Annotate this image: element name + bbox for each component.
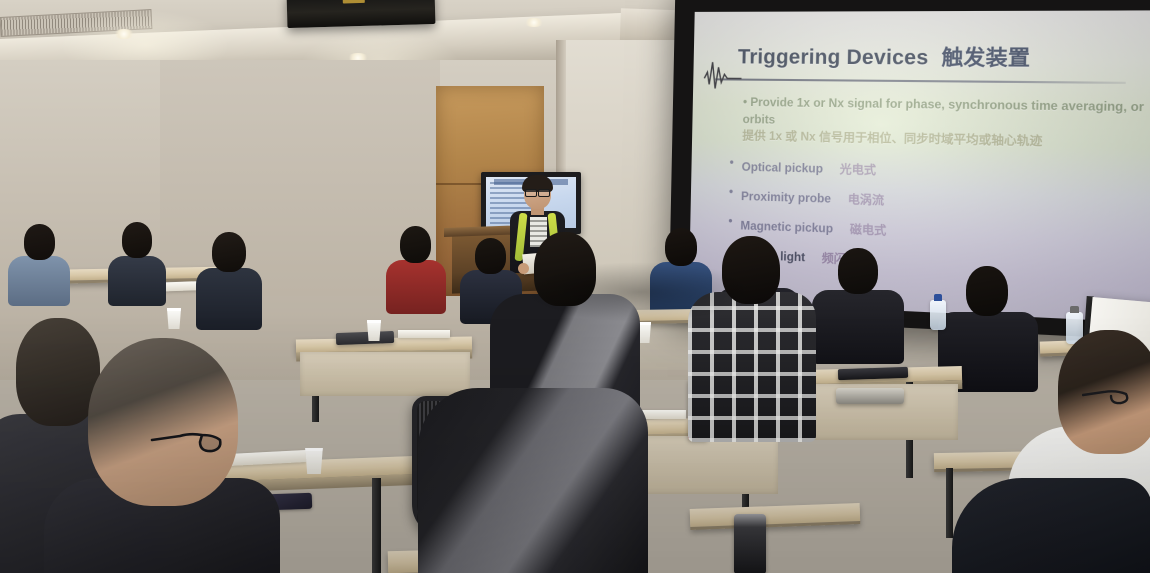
attendee-right-dark-2 <box>812 248 904 360</box>
attendee-4-head <box>400 226 431 263</box>
attendee-9-head <box>722 236 780 304</box>
attendee-bottom-right-dark <box>952 478 1150 573</box>
slide-title-cn: 触发装置 <box>941 47 1030 71</box>
attendee-center-front-top <box>418 388 648 573</box>
slide-title: Triggering Devices触发装置 <box>738 40 1146 72</box>
slide-bullet-proximity-cn: 电涡流 <box>848 194 885 207</box>
attendee-11-top <box>812 290 904 364</box>
slide-bullet-optical: Optical pickup光电式 <box>742 159 1147 185</box>
attendee-left-back-1 <box>8 224 70 302</box>
attendee-12b-head <box>966 266 1008 316</box>
attendee-bottom-right-top <box>952 478 1150 573</box>
attendee-left-grey <box>196 232 262 328</box>
slide-bullet-magnetic-cn: 磁电式 <box>850 224 887 238</box>
slide-bullet-optical-en: Optical pickup <box>742 162 824 176</box>
presenter-glasses-icon <box>525 189 550 195</box>
attendee-center-front-hoodie <box>418 388 648 573</box>
attendee-1-top <box>8 256 70 306</box>
ceiling-projector <box>287 0 436 28</box>
desk-third-modesty-panel <box>628 436 778 494</box>
attendee-13-head <box>88 338 238 506</box>
downlight-1-icon <box>113 29 135 39</box>
water-bottle-right <box>930 300 946 330</box>
water-bottle-far-right-cap <box>1070 306 1080 313</box>
attendee-9-top <box>688 292 816 442</box>
attendee-3-top <box>196 268 262 330</box>
waveform-icon <box>703 58 744 93</box>
slide-bullet-main: • Provide 1x or Nx signal for phase, syn… <box>742 95 1148 154</box>
attendee-4-top <box>386 260 446 314</box>
paper-cup-mid-right <box>366 320 382 341</box>
slide-bullet-proximity: Proximity probe电涡流 <box>741 188 1146 216</box>
classroom-scene: Triggering Devices触发装置 • Provide 1x or N… <box>0 0 1150 573</box>
downlight-3-icon <box>524 18 544 27</box>
slide-bullet-main-cn: 提供 1x 或 Nx 信号用于相位、同步时域平均或轴心轨迹 <box>742 129 1148 154</box>
attendee-12-glasses-icon <box>1082 386 1142 412</box>
paper-cup-mid-left <box>166 308 182 329</box>
attendee-7-head <box>534 232 596 306</box>
laptop-center <box>836 388 904 404</box>
slide-bullet-optical-cn: 光电式 <box>840 164 877 177</box>
slide-title-underline <box>715 78 1125 84</box>
paper-cup-front <box>304 448 324 474</box>
attendee-13-glasses-icon <box>150 428 236 460</box>
attendee-plaid-shirt <box>688 236 816 442</box>
slide-bullet-magnetic-en: Magnetic pickup <box>740 220 833 235</box>
laptop-left <box>336 331 394 345</box>
water-bottle-right-cap <box>934 294 943 301</box>
slide-bullet-proximity-en: Proximity probe <box>741 191 831 206</box>
attendee-2-top <box>108 256 166 306</box>
desk-front-left-leg <box>372 478 381 573</box>
slide-title-en: Triggering Devices <box>738 46 929 70</box>
attendee-red-hoodie <box>386 226 446 310</box>
attendee-3-head <box>212 232 246 272</box>
attendee-front-glasses <box>44 338 280 573</box>
desk-front-right <box>690 503 861 530</box>
attendee-2-head <box>122 222 152 258</box>
attendee-1-head <box>24 224 55 260</box>
attendee-left-back-2 <box>108 222 166 302</box>
papers-center <box>398 330 450 338</box>
projector-lens-glow <box>343 0 365 4</box>
slide-bullet-main-en: Provide 1x or Nx signal for phase, synch… <box>743 97 1145 126</box>
black-thermos-right <box>734 514 766 573</box>
attendee-11-head <box>838 248 878 294</box>
